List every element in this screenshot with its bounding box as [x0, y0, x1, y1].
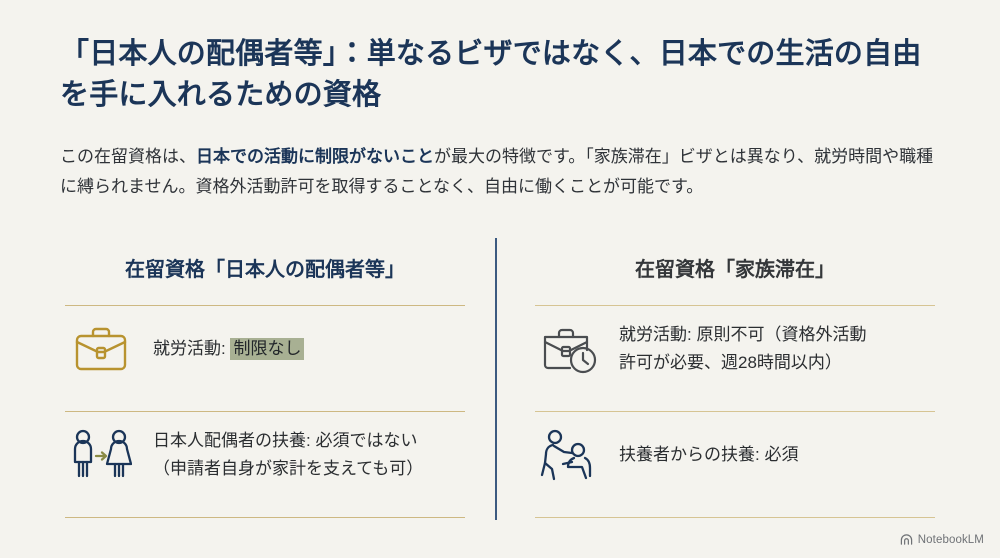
row-left-work-highlight: 制限なし [230, 338, 304, 360]
row-right-dependency-text: 扶養者からの扶養: 必須 [605, 441, 798, 469]
row-left-work-label: 就労活動: [153, 339, 230, 358]
row-left-work-activity: 就労活動: 制限なし [65, 306, 465, 392]
row-left-work-activity-text: 就労活動: 制限なし [135, 335, 304, 363]
lede-emphasis: 日本での活動に制限がないこと [196, 147, 434, 166]
briefcase-icon [67, 315, 135, 383]
row-left-dependency-line1: 日本人配偶者の扶養: 必須ではない [153, 431, 417, 450]
notebooklm-label: NotebookLM [918, 534, 984, 546]
row-right-dependency-line1: 扶養者からの扶養: 必須 [619, 445, 798, 464]
briefcase-clock-icon [537, 315, 605, 383]
row-right-work-activity: 就労活動: 原則不可（資格外活動 許可が必要、週28時間以内） [535, 306, 935, 392]
column-dependent-visa: 在留資格「家族滞在」 就労活動: 原則不可（資格外活動 許可が必要、週28時 [535, 238, 935, 518]
column-left-rule-bottom [65, 517, 465, 518]
column-right-rule-bottom [535, 517, 935, 518]
page-title: 「日本人の配偶者等」：単なるビザではなく、日本での生活の自由を手に入れるための資… [60, 34, 940, 116]
slide-header: 「日本人の配偶者等」：単なるビザではなく、日本での生活の自由を手に入れるための資… [60, 34, 940, 116]
row-right-work-line2: 許可が必要、週28時間以内） [619, 353, 842, 372]
column-divider [495, 238, 497, 520]
column-spouse-of-japanese: 在留資格「日本人の配偶者等」 就労活動: 制限なし [65, 238, 465, 518]
support-person-icon [537, 421, 605, 489]
lede-text-before: この在留資格は、 [60, 147, 196, 166]
notebooklm-logo-icon [900, 533, 913, 546]
comparison-columns: 在留資格「日本人の配偶者等」 就労活動: 制限なし [0, 238, 1000, 518]
slide-canvas: 「日本人の配偶者等」：単なるビザではなく、日本での生活の自由を手に入れるための資… [0, 0, 1000, 558]
row-left-dependency-text: 日本人配偶者の扶養: 必須ではない （申請者自身が家計を支えても可） [135, 427, 423, 482]
lede-paragraph: この在留資格は、日本での活動に制限がないことが最大の特徴です。「家族滞在」ビザと… [60, 142, 945, 203]
row-right-work-activity-text: 就労活動: 原則不可（資格外活動 許可が必要、週28時間以内） [605, 321, 866, 376]
row-left-dependency-line2: （申請者自身が家計を支えても可） [153, 459, 423, 478]
column-right-heading: 在留資格「家族滞在」 [535, 238, 935, 286]
row-left-dependency: 日本人配偶者の扶養: 必須ではない （申請者自身が家計を支えても可） [65, 412, 465, 498]
row-right-work-line1: 就労活動: 原則不可（資格外活動 [619, 325, 866, 344]
couple-arrow-icon [67, 421, 135, 489]
row-right-dependency: 扶養者からの扶養: 必須 [535, 412, 935, 498]
column-left-heading: 在留資格「日本人の配偶者等」 [65, 238, 465, 286]
notebooklm-watermark: NotebookLM [900, 533, 984, 546]
